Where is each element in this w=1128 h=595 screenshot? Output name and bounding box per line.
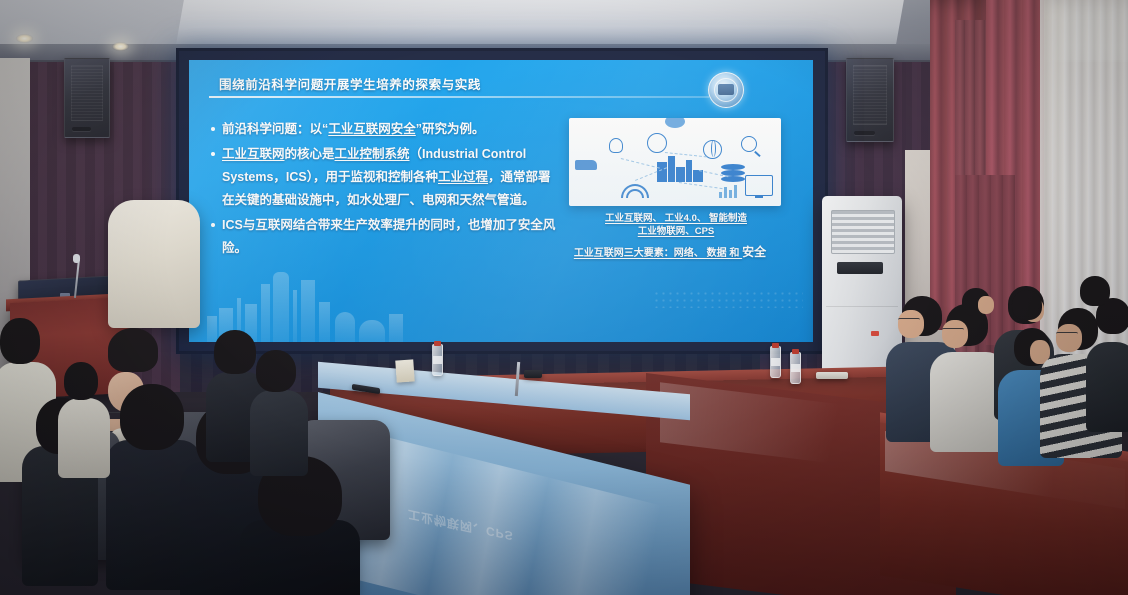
caption-line-1: 工业互联网、 工业4.0、 智能制造 (569, 212, 783, 225)
slide-bullet: 前沿科学问题：以“工业互联网安全”研究为例。 (211, 118, 559, 141)
ac-seam (826, 306, 898, 307)
downlight-icon (112, 42, 129, 51)
infographic-caption: 工业互联网、 工业4.0、 智能制造 工业物联网、CPS (569, 212, 783, 238)
database-icon (721, 176, 745, 182)
table-device (524, 370, 542, 378)
speaker-port-icon (854, 131, 874, 135)
bottle-label (771, 358, 780, 366)
bottle-cap (792, 349, 799, 354)
link-line (679, 182, 723, 189)
bullet-segment: 前沿科学问题：以“ (222, 122, 328, 136)
speaker-grill-icon (71, 65, 103, 121)
bullet-segment: ”研究为例。 (416, 122, 485, 136)
paper-card (395, 359, 414, 382)
bottle-label (433, 356, 442, 364)
university-emblem-icon (708, 72, 744, 108)
table-paper (816, 372, 848, 379)
slide-bullet: 工业互联网的核心是工业控制系统（Industrial Control Syste… (211, 143, 559, 212)
presentation-slide: 围绕前沿科学问题开展学生培养的探索与实践 前沿科学问题：以“工业互联网安全”研究… (189, 60, 813, 342)
bar-chart-icon (719, 185, 737, 198)
slide-bullet-text: 工业互联网的核心是工业控制系统（Industrial Control Syste… (222, 143, 559, 212)
ac-vent-icon (831, 210, 895, 254)
presenter-shirt (108, 200, 200, 328)
ceiling-recess (176, 0, 904, 44)
bullet-dot-icon (211, 152, 215, 156)
ac-control-panel[interactable] (837, 262, 883, 274)
ac-status-led (871, 331, 879, 336)
cloud-icon (665, 118, 685, 128)
photo-scene: 围绕前沿科学问题开展学生培养的探索与实践 前沿科学问题：以“工业互联网安全”研究… (0, 0, 1128, 595)
emphasis-term: 工业互联网安全 (328, 122, 416, 136)
caption-line-2: 工业物联网、CPS (569, 225, 783, 238)
presenter-hair (108, 328, 158, 372)
slide-bullet-text: 前沿科学问题：以“工业互联网安全”研究为例。 (222, 118, 559, 141)
downlight-icon (16, 34, 33, 43)
dotted-pattern (653, 290, 803, 308)
wall-speaker-left (64, 58, 110, 138)
emphasis-term: 工业互联网 (222, 147, 285, 161)
water-bottle (790, 352, 801, 384)
emblem-core (718, 84, 734, 95)
infographic-card (569, 118, 781, 206)
bullet-dot-icon (211, 127, 215, 131)
gear-icon (647, 133, 667, 153)
emphasis-term: 工业过程 (438, 170, 488, 184)
lightbulb-icon (609, 138, 623, 153)
water-bottle (770, 346, 781, 378)
speaker-port-icon (72, 127, 91, 131)
wall-speaker-right (846, 58, 894, 142)
bullet-segment: 的核心是 (285, 147, 335, 161)
monitor-icon (745, 175, 773, 196)
bottle-cap (434, 341, 441, 346)
water-bottle (432, 344, 443, 376)
emphasis-term: 工业控制系统 (335, 147, 410, 161)
podium-microphone-head (73, 254, 80, 263)
projection-screen: 围绕前沿科学问题开展学生培养的探索与实践 前沿科学问题：以“工业互联网安全”研究… (176, 48, 828, 354)
speaker-grill-icon (853, 65, 887, 125)
bottle-cap (772, 343, 779, 348)
magnifier-icon (741, 136, 757, 152)
title-divider (209, 96, 709, 98)
link-line (621, 158, 660, 169)
city-skyline-watermark (189, 250, 813, 342)
bottle-label (791, 364, 800, 372)
slide-bullet-list: 前沿科学问题：以“工业互联网安全”研究为例。工业互联网的核心是工业控制系统（In… (211, 118, 559, 262)
presenter (108, 200, 218, 390)
truck-icon (575, 160, 597, 170)
slide-title: 围绕前沿科学问题开展学生培养的探索与实践 (219, 74, 481, 93)
